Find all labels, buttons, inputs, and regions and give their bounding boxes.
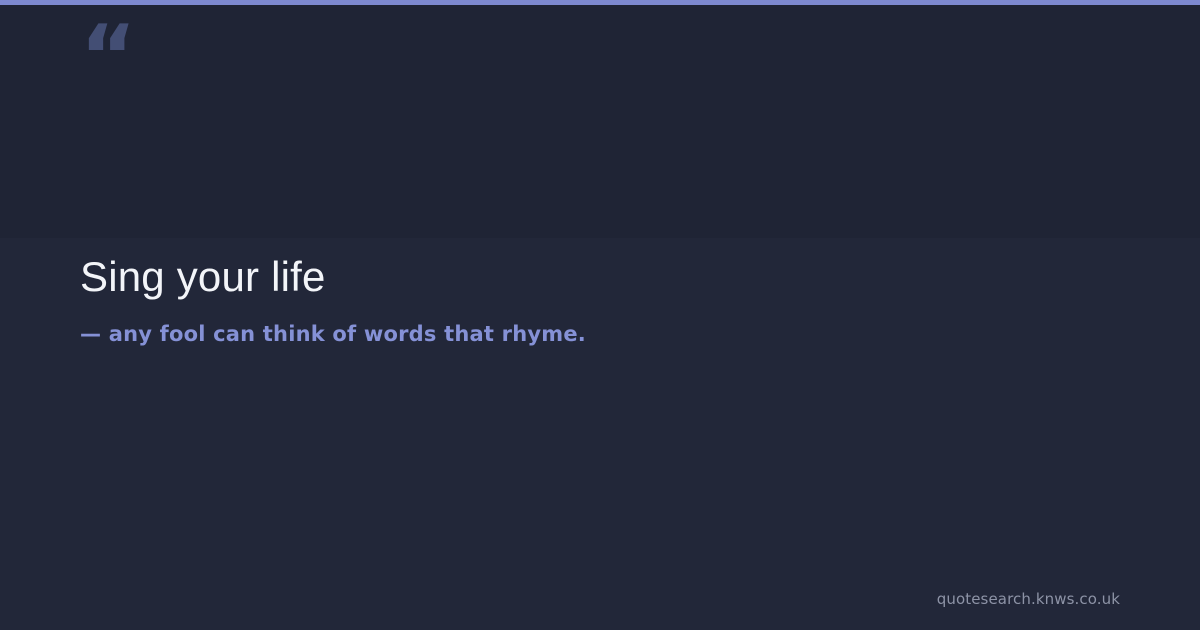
site-url-label: quotesearch.knws.co.uk	[937, 590, 1120, 608]
open-quote-icon: “	[80, 14, 136, 100]
upper-background-band	[0, 0, 1200, 238]
quote-attribution: — any fool can think of words that rhyme…	[80, 321, 1120, 348]
quote-card: “ Sing your life — any fool can think of…	[0, 0, 1200, 630]
quote-body: Sing your life — any fool can think of w…	[80, 252, 1120, 348]
top-accent-bar	[0, 0, 1200, 5]
quote-text: Sing your life	[80, 252, 1120, 302]
